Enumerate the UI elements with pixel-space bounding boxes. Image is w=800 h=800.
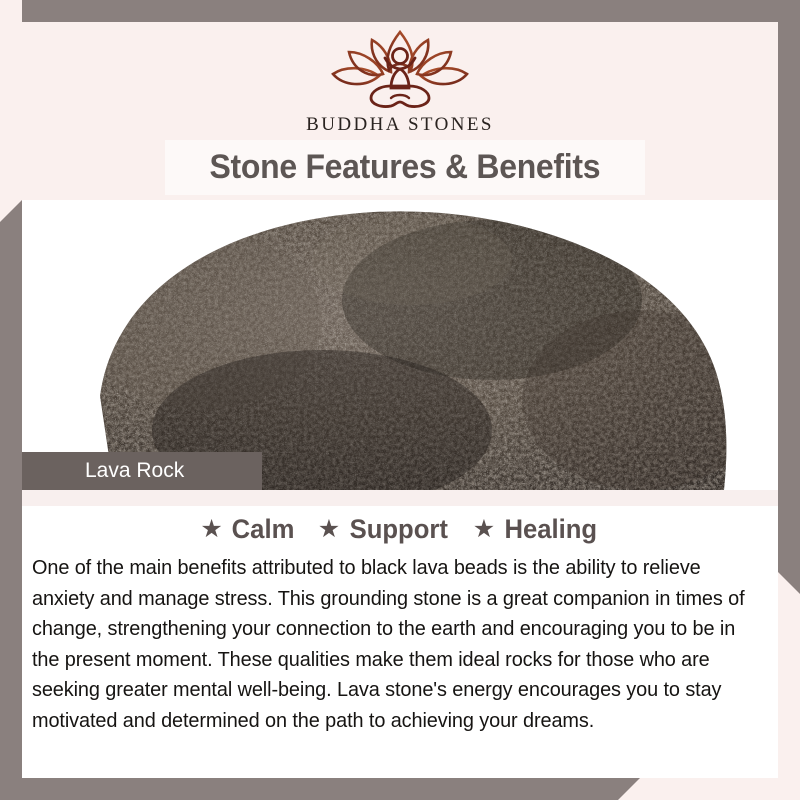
star-icon: ★ bbox=[318, 517, 340, 542]
frame-band-right bbox=[778, 0, 800, 594]
benefit-item-calm: ★ Calm bbox=[200, 514, 295, 545]
section-separator bbox=[22, 490, 778, 506]
body-paragraph: One of the main benefits attributed to b… bbox=[32, 553, 748, 736]
lava-rock-photo bbox=[22, 200, 778, 490]
brand-name: BUDDHA STONES bbox=[22, 114, 778, 136]
star-icon: ★ bbox=[473, 517, 495, 542]
benefit-label-support: Support bbox=[350, 514, 448, 545]
benefits-row: ★ Calm ★ Support ★ Healing bbox=[22, 506, 778, 545]
header: BUDDHA STONES Stone Features & Benefits bbox=[22, 22, 778, 200]
brand-logo: BUDDHA STONES bbox=[22, 22, 778, 136]
photo-panel: Lava Rock bbox=[22, 200, 778, 490]
frame-band-left bbox=[0, 200, 22, 800]
photo-caption-band: Lava Rock bbox=[22, 452, 262, 490]
benefit-item-healing: ★ Healing bbox=[473, 514, 600, 545]
benefit-item-support: ★ Support bbox=[318, 514, 451, 545]
page-title: Stone Features & Benefits bbox=[210, 148, 601, 187]
frame-band-top bbox=[22, 0, 800, 22]
benefit-label-healing: Healing bbox=[505, 514, 598, 545]
star-icon: ★ bbox=[200, 517, 222, 542]
frame-band-bottom bbox=[0, 778, 640, 800]
content-panel: ★ Calm ★ Support ★ Healing One of the ma… bbox=[22, 506, 778, 778]
title-plate: Stone Features & Benefits bbox=[165, 140, 645, 195]
infographic-card: BUDDHA STONES Stone Features & Benefits bbox=[0, 0, 800, 800]
lotus-meditation-icon bbox=[325, 28, 475, 112]
photo-caption-label: Lava Rock bbox=[22, 459, 184, 483]
benefit-label-calm: Calm bbox=[231, 514, 294, 545]
